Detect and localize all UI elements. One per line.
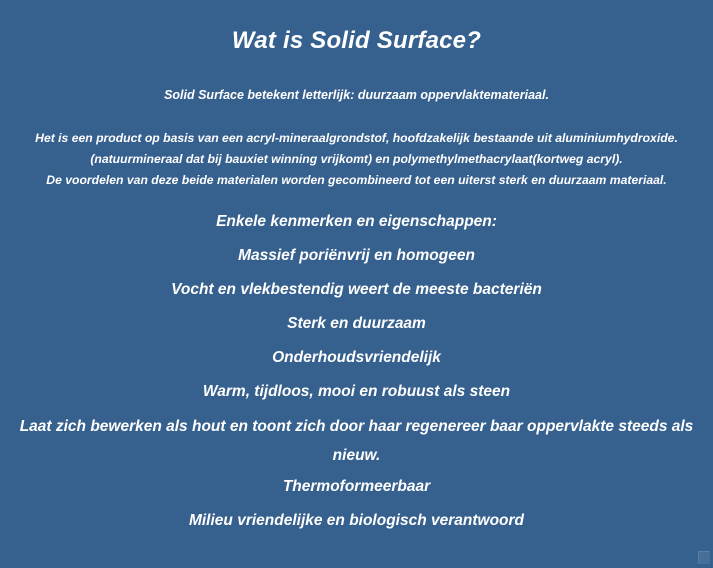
features-list: Enkele kenmerken en eigenschappen: Massi…	[0, 191, 713, 538]
resize-corner-icon[interactable]	[698, 551, 710, 564]
list-item: Onderhoudsvriendelijk	[0, 341, 713, 375]
intro-line: Het is een product op basis van een acry…	[0, 128, 713, 149]
slide-subtitle: Solid Surface betekent letterlijk: duurz…	[0, 55, 713, 103]
list-item: Warm, tijdloos, mooi en robuust als stee…	[0, 375, 713, 409]
list-item: Milieu vriendelijke en biologisch verant…	[0, 504, 713, 538]
list-item: Massief poriënvrij en homogeen	[0, 239, 713, 273]
intro-line: (natuurmineraal dat bij bauxiet winning …	[0, 149, 713, 170]
list-item: Sterk en duurzaam	[0, 307, 713, 341]
page-title: Wat is Solid Surface?	[0, 0, 713, 55]
slide-canvas: Wat is Solid Surface? Solid Surface bete…	[0, 0, 713, 568]
list-item: Thermoformeerbaar	[0, 470, 713, 504]
intro-line: De voordelen van deze beide materialen w…	[0, 170, 713, 191]
intro-paragraph: Het is een product op basis van een acry…	[0, 103, 713, 191]
list-item: Vocht en vlekbestendig weert de meeste b…	[0, 273, 713, 307]
features-heading: Enkele kenmerken en eigenschappen:	[0, 205, 713, 239]
list-item: Laat zich bewerken als hout en toont zic…	[0, 409, 713, 470]
